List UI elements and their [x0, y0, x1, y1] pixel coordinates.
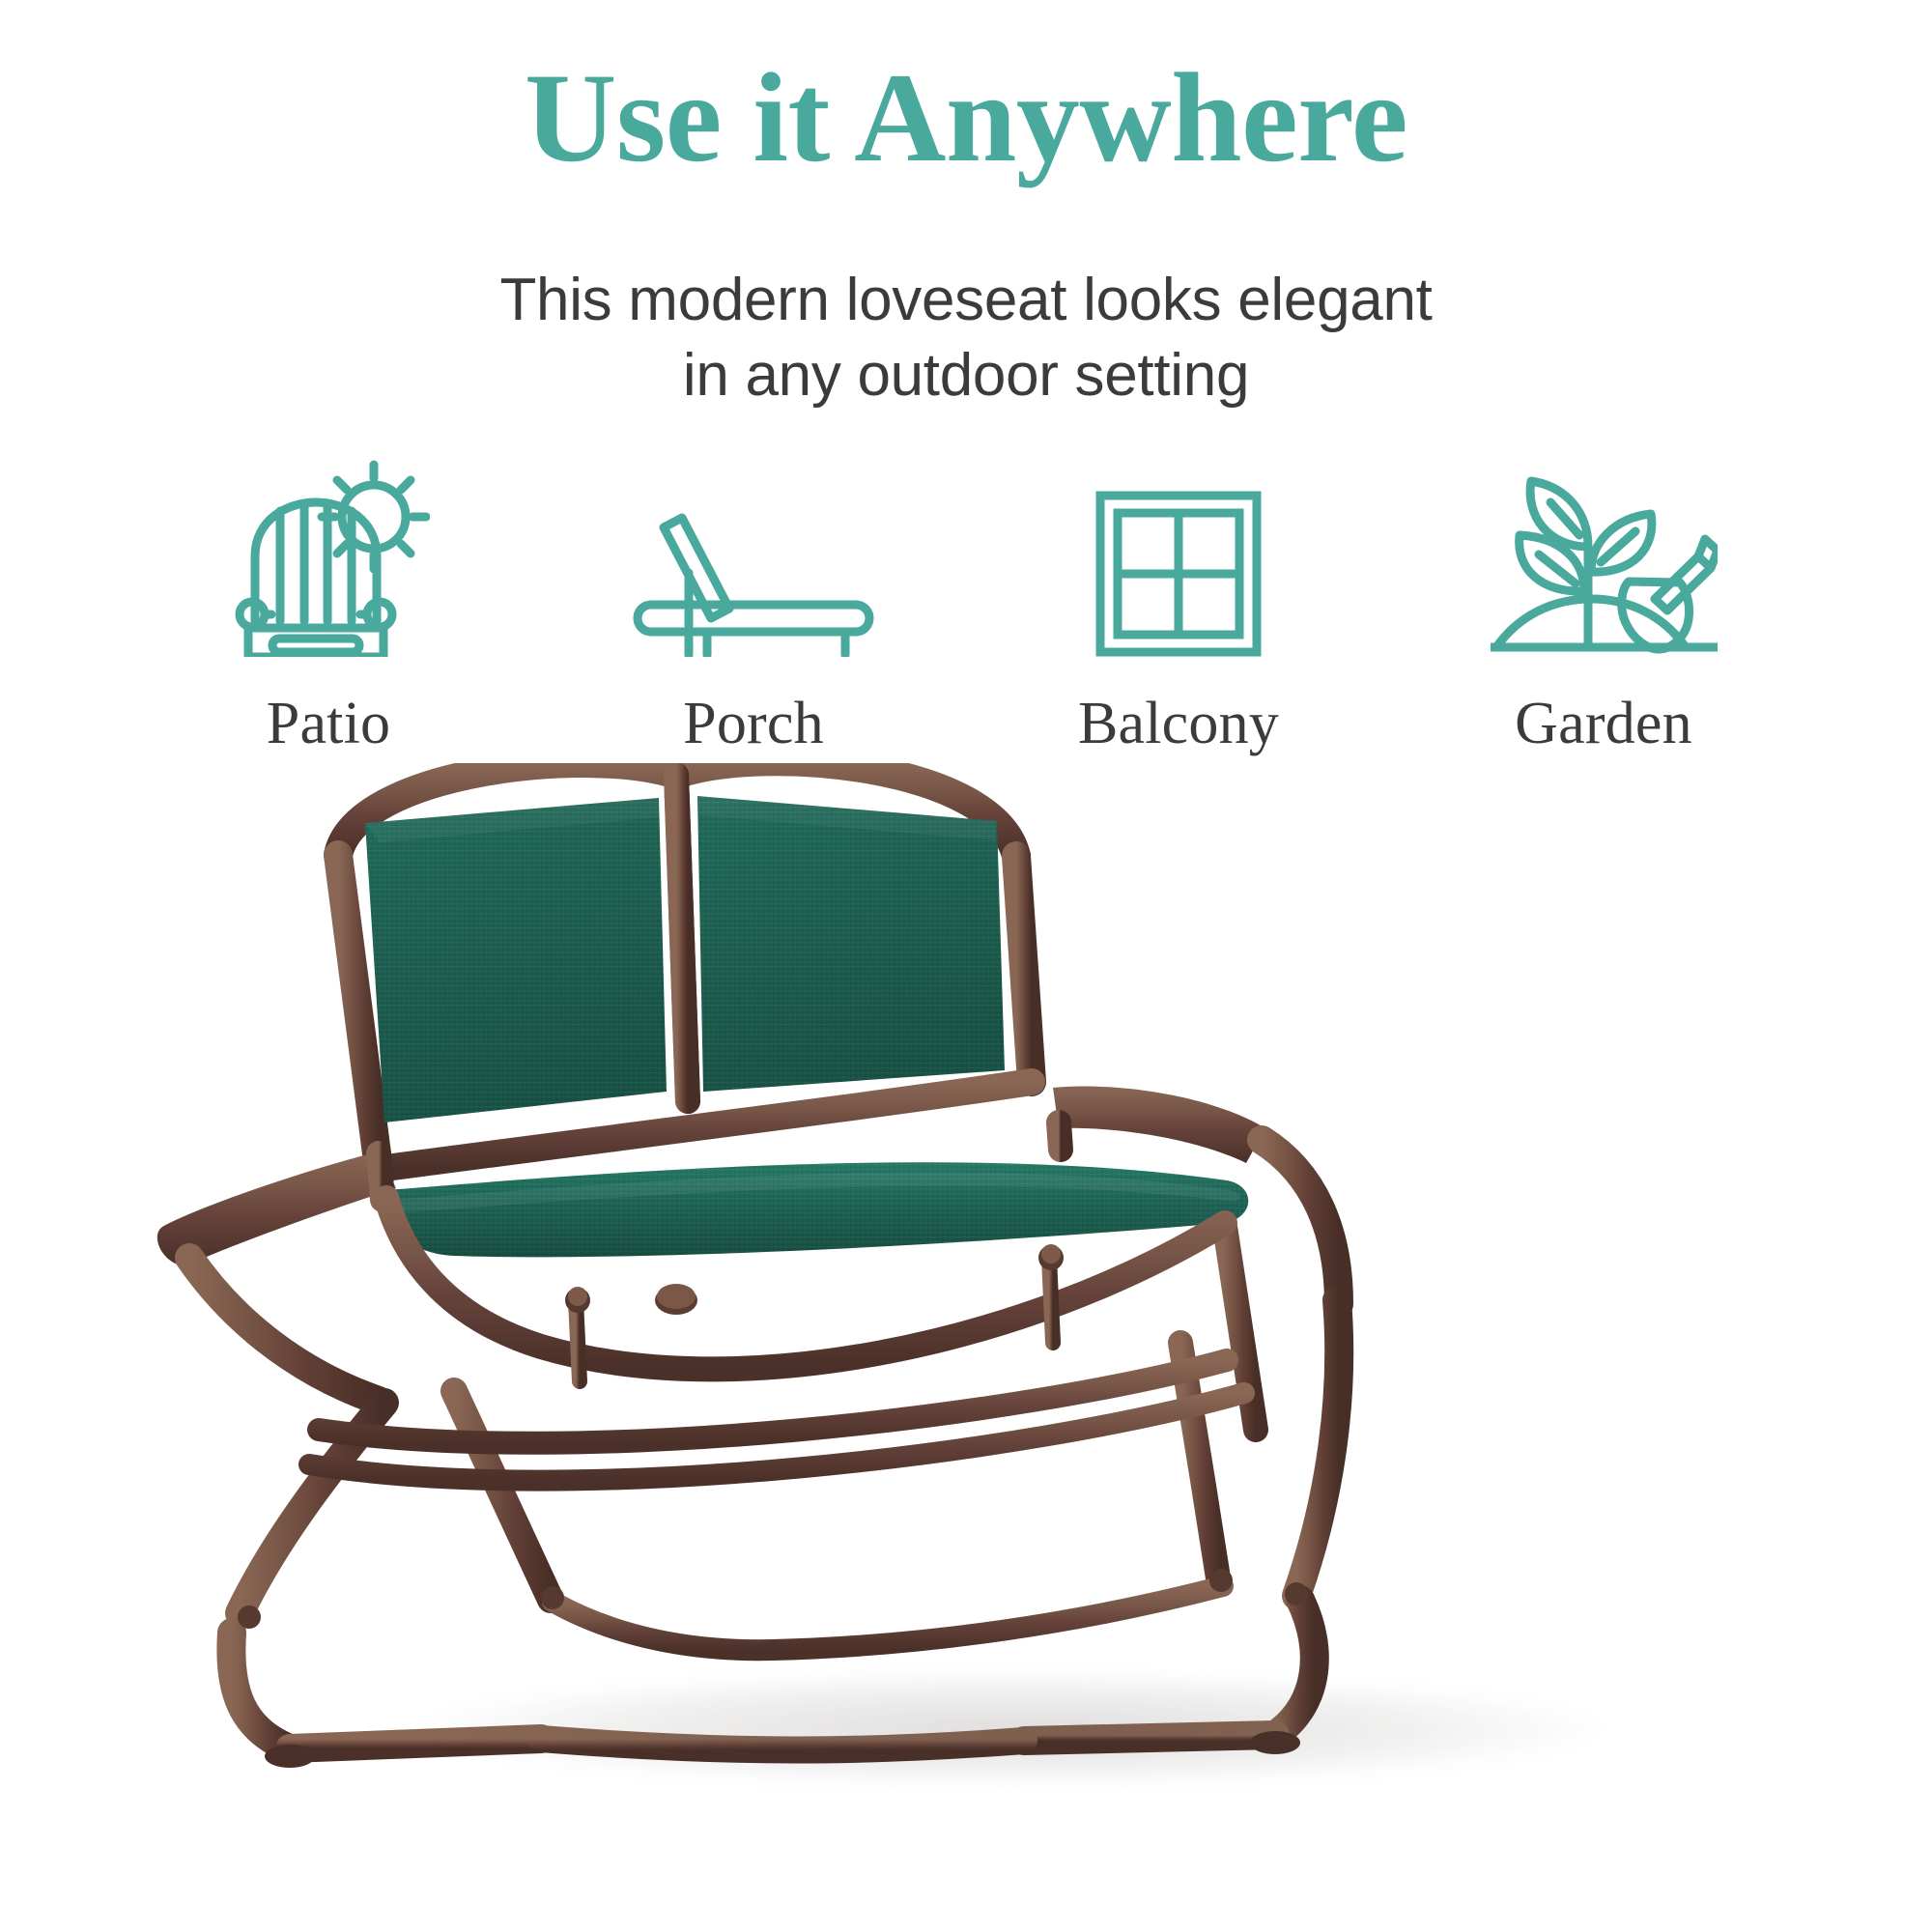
feature-label-garden: Garden [1515, 694, 1692, 753]
adirondack-chair-sun-icon [227, 454, 430, 657]
feature-item-porch: Porch [551, 454, 956, 753]
window-icon [1095, 454, 1262, 657]
plant-shovel-icon [1491, 454, 1718, 657]
feature-list: Patio Porch [126, 406, 1806, 753]
lounge-chair-icon [628, 454, 879, 657]
page-title: Use it Anywhere [0, 50, 1932, 185]
feature-label-balcony: Balcony [1078, 694, 1279, 753]
product-image-glider-loveseat [0, 763, 1932, 1932]
infographic-page: Use it Anywhere This modern loveseat loo… [0, 0, 1932, 1932]
feature-label-patio: Patio [267, 694, 390, 753]
feature-item-patio: Patio [126, 454, 531, 753]
feature-label-porch: Porch [683, 694, 824, 753]
subtitle-line-2: in any outdoor setting [0, 338, 1932, 413]
feature-item-garden: Garden [1401, 454, 1806, 753]
page-subtitle: This modern loveseat looks elegant in an… [0, 263, 1932, 413]
subtitle-line-1: This modern loveseat looks elegant [499, 267, 1432, 333]
feature-item-balcony: Balcony [976, 454, 1381, 753]
product-drop-shadow [415, 1671, 1604, 1787]
